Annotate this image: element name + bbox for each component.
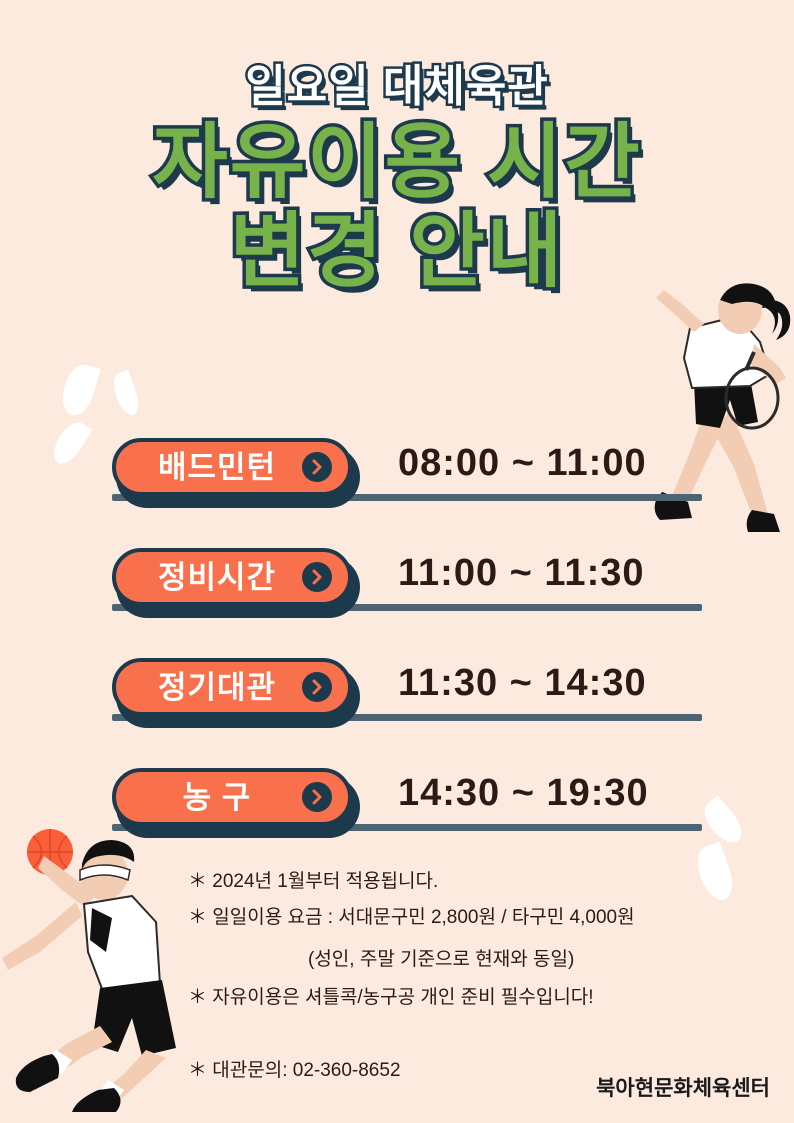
schedule-time: 11:00 ~ 11:30 [398,552,645,595]
pill-label: 정기대관 [138,672,302,703]
schedule-time: 14:30 ~ 19:30 [398,772,649,815]
schedule-time: 11:30 ~ 14:30 [398,662,647,705]
schedule-pill-regular-rental[interactable]: 정기대관 [112,658,352,716]
schedule-pill-badminton[interactable]: 배드민턴 [112,438,352,496]
schedule-row[interactable]: 배드민턴 08:00 ~ 11:00 [0,428,794,538]
chevron-right-icon [302,672,332,702]
note-line-3: ＊ 자유이용은 셔틀콕/농구공 개인 준비 필수입니다! [188,988,748,1007]
pill-label: 농 구 [138,782,302,813]
note-line-2-sub: (성인, 주말 기준으로 현재와 동일) [188,944,748,971]
basketball-player-illustration [0,812,190,1112]
chevron-right-icon [302,452,332,482]
poster-title-line-1: 자유이용 시간 [0,119,794,208]
poster-canvas: 일요일 대체육관 자유이용 시간 변경 안내 [0,0,794,1123]
schedule-time: 08:00 ~ 11:00 [398,442,647,485]
schedule-pill-maintenance[interactable]: 정비시간 [112,548,352,606]
note-line-1: ＊ 2024년 1월부터 적용됩니다. [188,872,748,891]
poster-title: 자유이용 시간 변경 안내 [0,119,794,296]
petal-decoration-icon [57,361,100,419]
schedule-list: 배드민턴 08:00 ~ 11:00 정비시간 11:00 ~ 11:30 [0,428,794,868]
poster-header: 일요일 대체육관 자유이용 시간 변경 안내 [0,0,794,296]
note-line-2: ＊ 일일이용 요금 : 서대문구민 2,800원 / 타구민 4,000원 [188,908,748,927]
petal-decoration-icon [109,370,143,418]
poster-kicker: 일요일 대체육관 [0,62,794,111]
notes-block: ＊ 2024년 1월부터 적용됩니다. ＊ 일일이용 요금 : 서대문구민 2,… [188,872,748,1024]
chevron-right-icon [302,562,332,592]
pill-label: 배드민턴 [138,452,302,483]
pill-label: 정비시간 [138,562,302,593]
schedule-row[interactable]: 정비시간 11:00 ~ 11:30 [0,538,794,648]
schedule-row[interactable]: 정기대관 11:30 ~ 14:30 [0,648,794,758]
chevron-right-icon [302,782,332,812]
contact-line: ＊ 대관문의: 02-360-8652 [188,1055,401,1082]
facility-name: 북아현문화체육센터 [596,1072,770,1102]
